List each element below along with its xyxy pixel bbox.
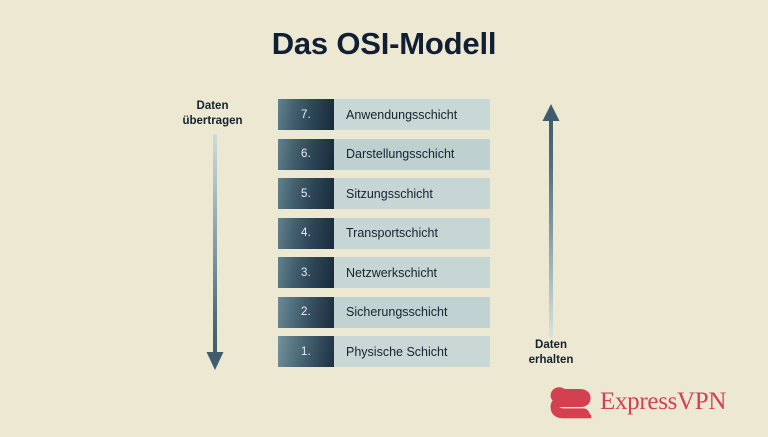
page-title: Das OSI-Modell	[0, 26, 768, 62]
layer-number: 6.	[278, 139, 334, 170]
layer-label: Physische Schicht	[334, 336, 490, 367]
layer-row[interactable]: 1. Physische Schicht	[278, 336, 490, 367]
layer-label: Netzwerkschicht	[334, 257, 490, 288]
layer-label: Sicherungsschicht	[334, 297, 490, 328]
layer-number: 2.	[278, 297, 334, 328]
layer-label: Transportschicht	[334, 218, 490, 249]
right-caption-line2: erhalten	[503, 353, 599, 368]
osi-layer-stack: 7. Anwendungsschicht 6. Darstellungsschi…	[278, 99, 490, 367]
right-caption-daten-erhalten: Daten erhalten	[503, 338, 599, 368]
expressvpn-e-logo-icon	[550, 385, 592, 419]
layer-number: 4.	[278, 218, 334, 249]
layer-row[interactable]: 5. Sitzungsschicht	[278, 178, 490, 209]
left-caption-line2: übertragen	[160, 114, 265, 129]
right-caption-line1: Daten	[503, 338, 599, 353]
layer-number: 3.	[278, 257, 334, 288]
layer-row[interactable]: 2. Sicherungsschicht	[278, 297, 490, 328]
layer-row[interactable]: 3. Netzwerkschicht	[278, 257, 490, 288]
layer-row[interactable]: 7. Anwendungsschicht	[278, 99, 490, 130]
layer-number: 5.	[278, 178, 334, 209]
left-caption-daten-uebertragen: Daten übertragen	[160, 99, 265, 129]
layer-label: Anwendungsschicht	[334, 99, 490, 130]
layer-number: 1.	[278, 336, 334, 367]
downward-arrow-icon	[196, 134, 234, 377]
layer-label: Darstellungsschicht	[334, 139, 490, 170]
layer-label: Sitzungsschicht	[334, 178, 490, 209]
diagram-canvas: Das OSI-Modell Daten übertragen 7. A	[0, 0, 768, 437]
layer-number: 7.	[278, 99, 334, 130]
left-caption-line1: Daten	[160, 99, 265, 114]
brand-name: ExpressVPN	[600, 389, 726, 416]
upward-arrow-icon	[532, 102, 570, 343]
layer-row[interactable]: 4. Transportschicht	[278, 218, 490, 249]
layer-row[interactable]: 6. Darstellungsschicht	[278, 139, 490, 170]
brand-logo: ExpressVPN	[550, 385, 726, 419]
